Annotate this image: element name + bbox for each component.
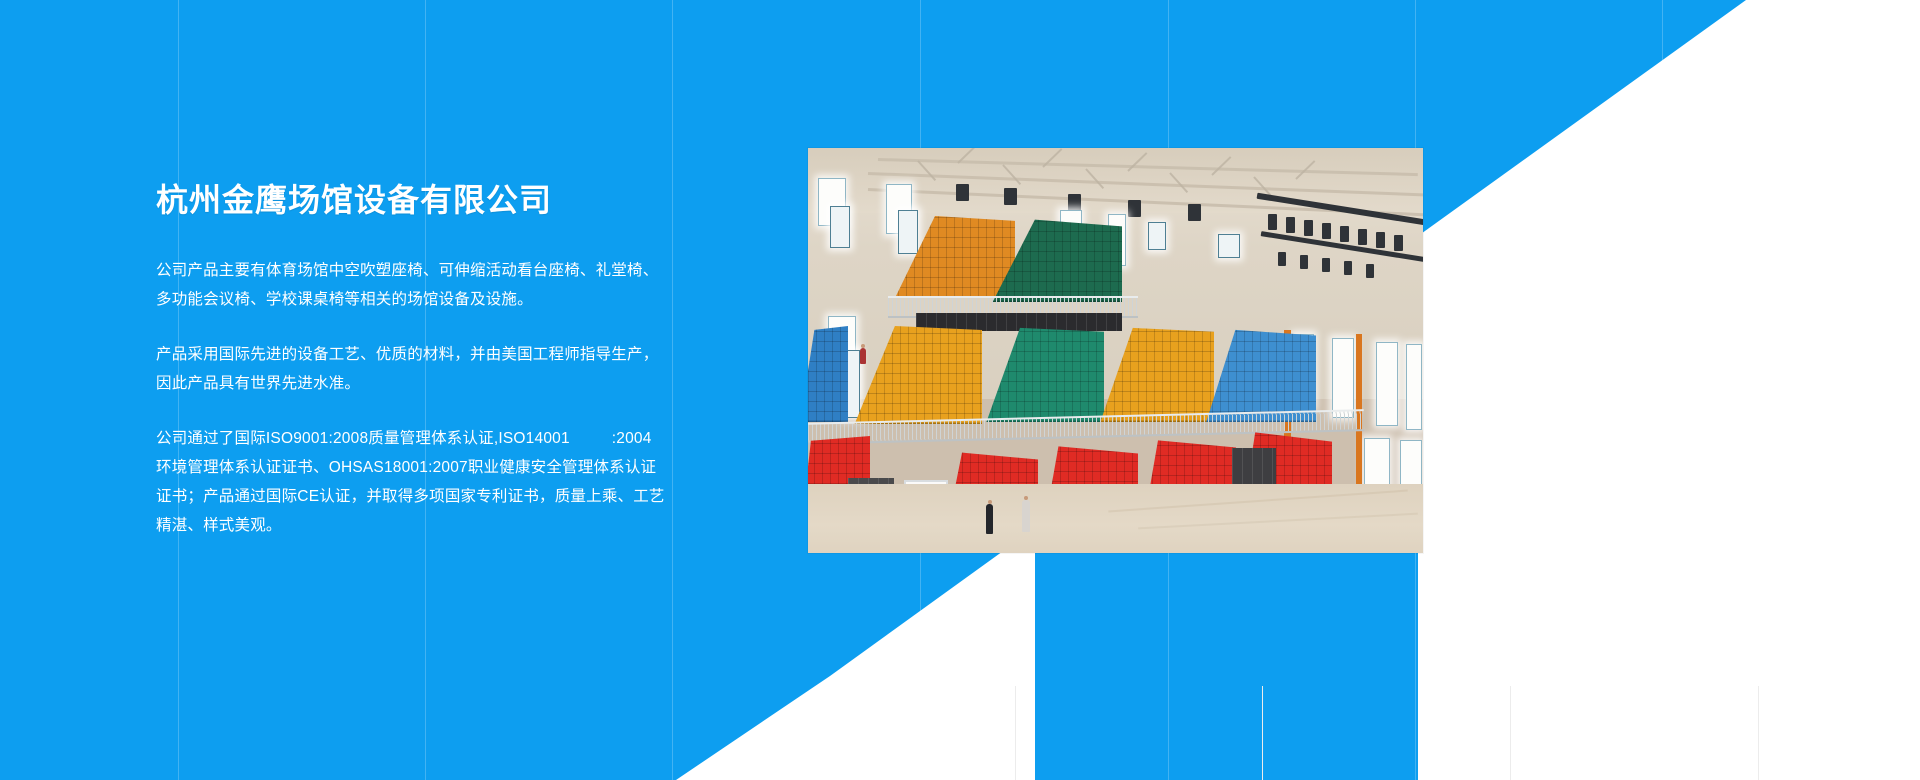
stage-light [1300,255,1308,269]
ceiling-speaker [1128,200,1141,217]
white-guide-line-2 [1262,686,1263,780]
stage-light [1376,232,1385,248]
right-window [1406,344,1422,430]
white-guide-line-1 [1015,686,1016,780]
cert-text-part1: 公司通过了国际ISO9001:2008质量管理体系认证,ISO14001 [156,430,570,447]
stage-light [1278,252,1286,266]
page-title: 杭州金鹰场馆设备有限公司 [156,178,666,222]
upper-window [1218,234,1240,258]
white-guide-line-4 [1758,686,1759,780]
photo-scene [808,148,1423,553]
spectator [1022,500,1030,532]
stage-light [1304,220,1313,236]
right-window [1376,342,1398,426]
paragraph-certifications: 公司通过了国际ISO9001:2008质量管理体系认证,ISO14001:200… [156,424,666,540]
ceiling-speaker [1004,188,1017,205]
right-window [1332,338,1354,418]
guide-line-7 [1662,0,1663,780]
stage-light [1268,214,1277,230]
gymnasium-photo [808,148,1423,553]
stage-light [1358,229,1367,245]
stage-light [1340,226,1349,242]
company-copy-block: 杭州金鹰场馆设备有限公司 公司产品主要有体育场馆中空吹塑座椅、可伸缩活动看台座椅… [156,178,666,540]
upper-window [830,206,850,248]
ceiling-speaker [956,184,969,201]
paragraph-quality: 产品采用国际先进的设备工艺、优质的材料，并由美国工程师指导生产，因此产品具有世界… [156,340,666,398]
stage-light [1394,235,1403,251]
stage-light [1286,217,1295,233]
white-guide-line-3 [1510,686,1511,780]
guide-line-3 [672,0,673,780]
spectator [860,348,866,364]
upper-window [1148,222,1166,250]
bleacher-base-upper [916,313,1122,331]
paragraph-products: 公司产品主要有体育场馆中空吹塑座椅、可伸缩活动看台座椅、礼堂椅、多功能会议椅、学… [156,256,666,314]
stage-light [1366,264,1374,278]
banner-stage: 杭州金鹰场馆设备有限公司 公司产品主要有体育场馆中空吹塑座椅、可伸缩活动看台座椅… [0,0,1920,780]
upper-window [898,210,918,254]
spectator [986,504,993,534]
stage-light [1322,223,1331,239]
bleacher-tier-blue [808,326,848,422]
stage-light [1344,261,1352,275]
ceiling-speaker [1188,204,1201,221]
stage-light [1322,258,1330,272]
ceiling-speaker [1068,194,1081,211]
